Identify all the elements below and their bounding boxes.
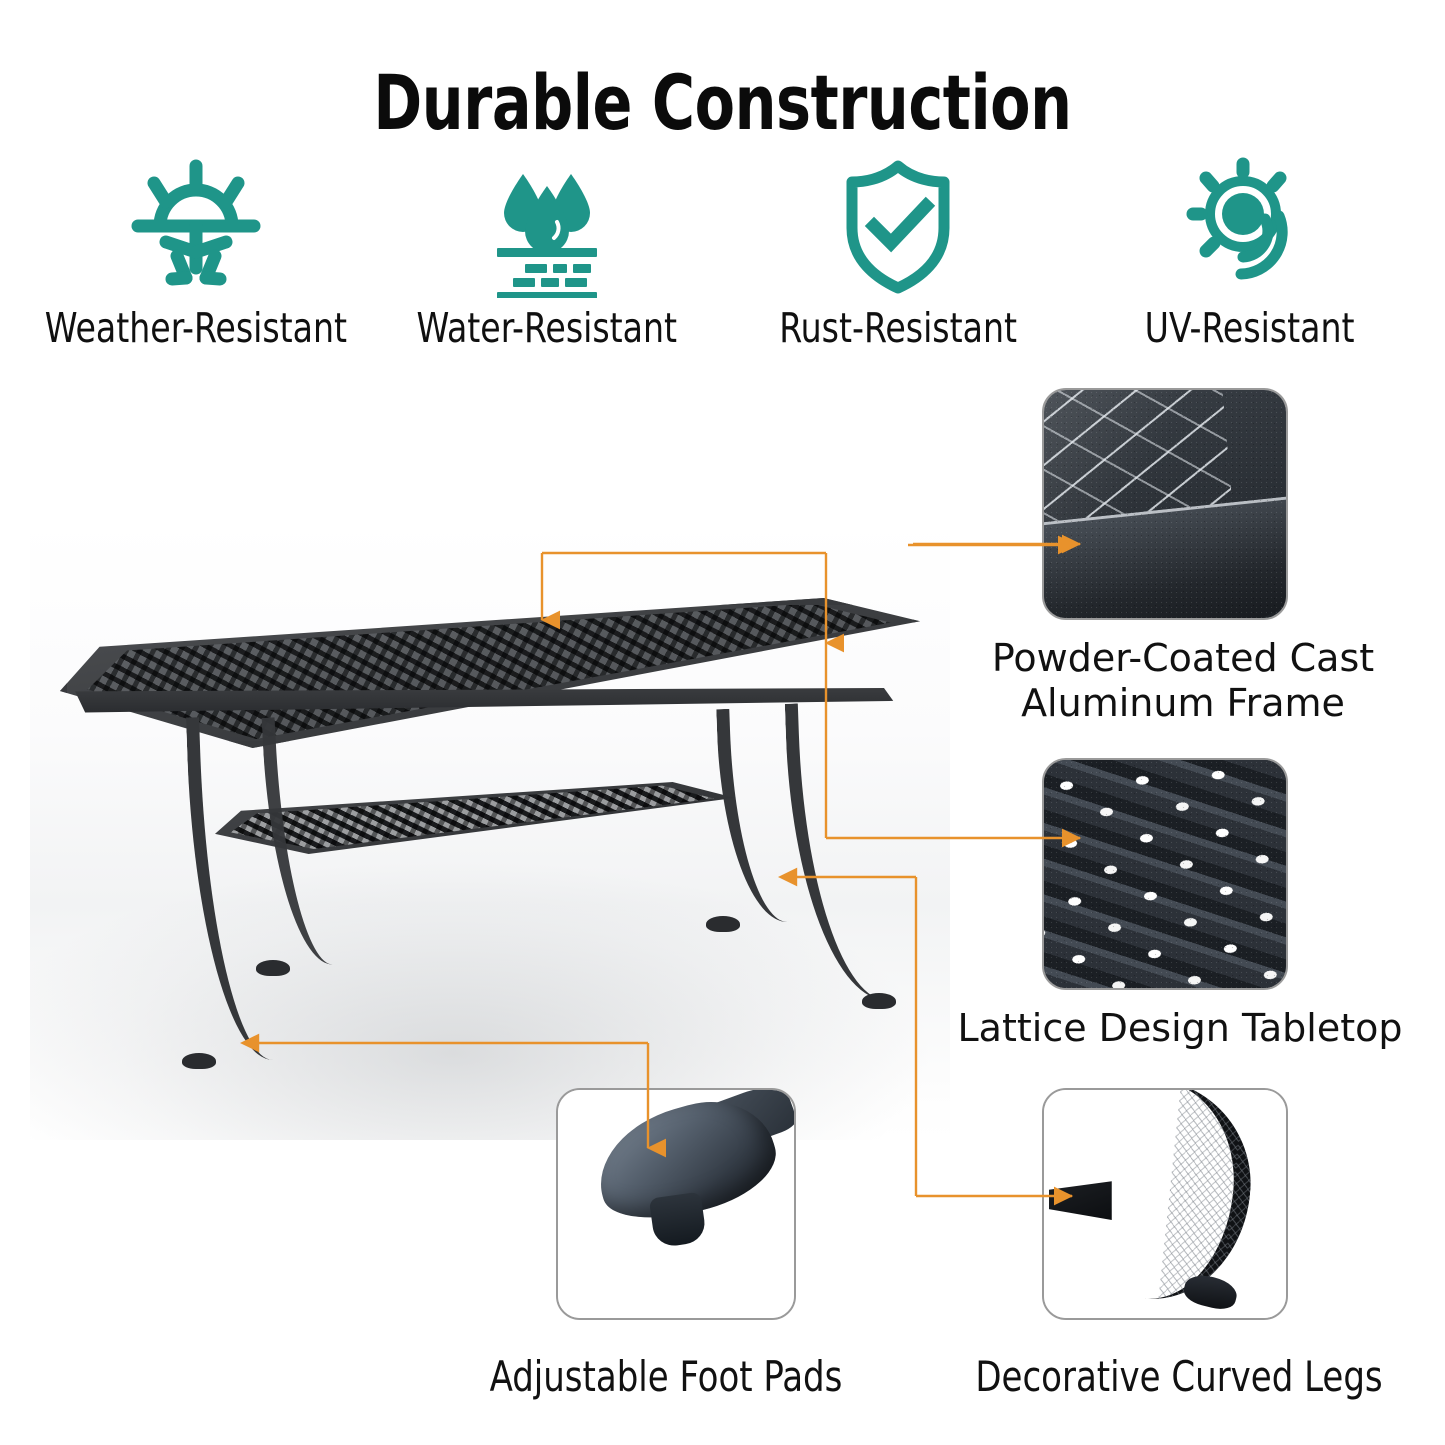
feature-weather-resistant: Weather-Resistant bbox=[20, 152, 371, 352]
foot-pad-glide bbox=[649, 1192, 707, 1249]
table-foot bbox=[256, 960, 290, 976]
lattice-photo bbox=[1044, 760, 1286, 988]
leg-bracket bbox=[1049, 1181, 1112, 1220]
feature-label: Weather-Resistant bbox=[44, 304, 346, 352]
product-photo bbox=[30, 520, 950, 1140]
table-foot bbox=[706, 916, 740, 932]
powder-coat-texture bbox=[1044, 390, 1286, 618]
feature-label: UV-Resistant bbox=[1144, 304, 1354, 352]
sun-rays-waves-icon bbox=[1173, 152, 1325, 302]
feature-row: Weather-Resistant bbox=[20, 152, 1425, 357]
inset-curved-leg-closeup bbox=[1042, 1088, 1288, 1320]
callout-label-frame: Powder-Coated Cast Aluminum Frame bbox=[944, 636, 1422, 726]
shield-check-icon bbox=[822, 152, 974, 302]
callout-label-lattice: Lattice Design Tabletop bbox=[930, 1006, 1430, 1051]
inset-lattice-closeup bbox=[1042, 758, 1288, 990]
inset-table-edge-closeup bbox=[1042, 388, 1288, 620]
table-foot bbox=[862, 993, 896, 1009]
curved-leg-photo bbox=[1044, 1090, 1286, 1318]
callout-line-2: Aluminum Frame bbox=[944, 681, 1422, 726]
water-droplets-surface-icon bbox=[471, 152, 623, 302]
powder-coat-texture bbox=[1044, 760, 1286, 988]
page-title: Durable Construction bbox=[101, 58, 1344, 147]
feature-uv-resistant: UV-Resistant bbox=[1074, 152, 1425, 352]
callout-label-curved-legs: Decorative Curved Legs bbox=[953, 1352, 1405, 1402]
table-foot bbox=[182, 1053, 216, 1069]
frame-edge-photo bbox=[1044, 390, 1286, 618]
callout-label-foot-pads: Adjustable Foot Pads bbox=[454, 1352, 879, 1402]
sun-snowflake-icon bbox=[120, 152, 272, 302]
feature-label: Rust-Resistant bbox=[779, 304, 1017, 352]
foot-pad-photo bbox=[558, 1090, 794, 1318]
leg-foot-cap bbox=[1182, 1271, 1241, 1313]
feature-water-resistant: Water-Resistant bbox=[371, 152, 722, 352]
feature-label: Water-Resistant bbox=[417, 304, 678, 352]
feature-rust-resistant: Rust-Resistant bbox=[723, 152, 1074, 352]
callout-line-1: Powder-Coated Cast bbox=[944, 636, 1422, 681]
inset-foot-pad-closeup bbox=[556, 1088, 796, 1320]
infographic-page: Durable Construction bbox=[0, 0, 1445, 1445]
